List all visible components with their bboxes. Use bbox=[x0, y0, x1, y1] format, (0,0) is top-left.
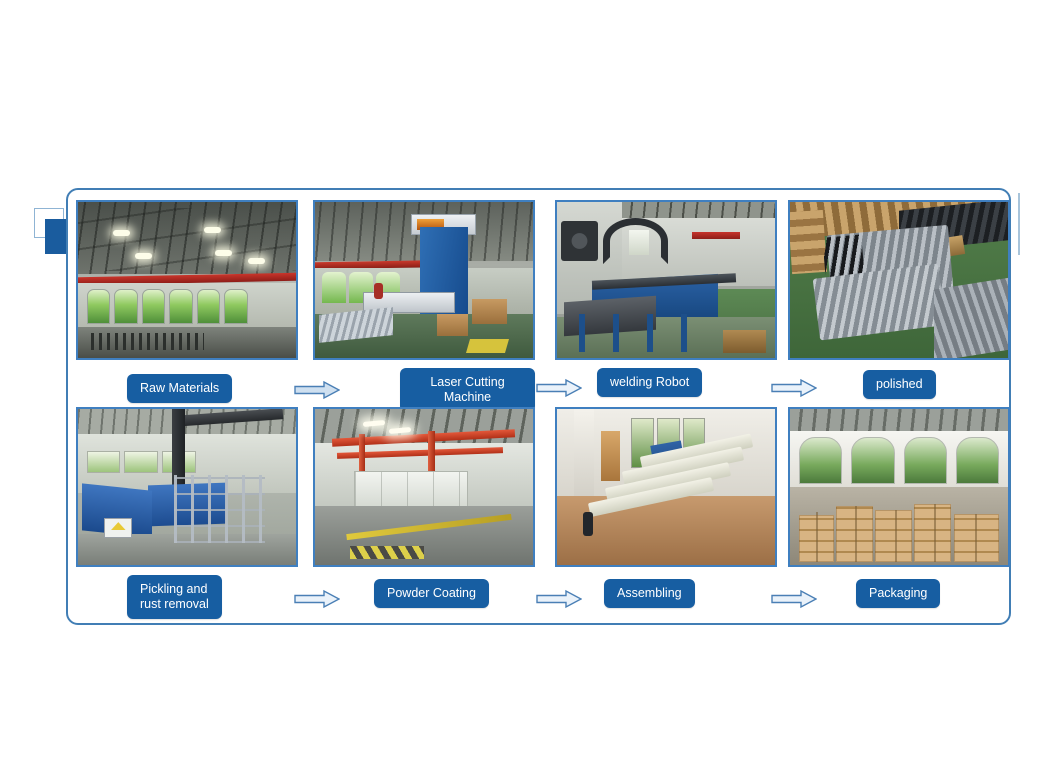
step-label-chip[interactable]: Pickling and rust removal bbox=[127, 575, 222, 619]
workflow-step-powder-coating[interactable]: Powder Coating bbox=[313, 399, 535, 612]
workflow-step-assembling[interactable]: Assembling bbox=[555, 399, 777, 612]
workflow-step-pickling-rust-removal[interactable]: Pickling and rust removal bbox=[76, 399, 298, 612]
step-label-chip[interactable]: Assembling bbox=[604, 579, 695, 608]
step-photo-frame bbox=[788, 200, 1010, 360]
photo-assembly-workbenches bbox=[557, 409, 775, 565]
photo-factory-warehouse-interior bbox=[78, 202, 296, 358]
workflow-row-2: Pickling and rust removal bbox=[68, 399, 1013, 612]
step-photo-frame bbox=[76, 407, 298, 567]
step-photo-frame bbox=[555, 200, 777, 360]
step-label-chip[interactable]: polished bbox=[863, 370, 936, 399]
workflow-step-packaging[interactable]: Packaging bbox=[788, 399, 1010, 612]
slide-canvas: Production Workflow Chart TOPOST bbox=[0, 0, 1060, 762]
header-divider bbox=[1018, 193, 1020, 255]
workflow-step-welding-robot[interactable]: welding Robot bbox=[555, 192, 777, 405]
workflow-step-raw-materials[interactable]: Raw Materials bbox=[76, 192, 298, 405]
step-photo-frame bbox=[555, 407, 777, 567]
step-photo-frame bbox=[76, 200, 298, 360]
photo-powder-coating-line bbox=[315, 409, 533, 565]
step-photo-frame bbox=[313, 200, 535, 360]
workflow-row-1: Raw Materials bbox=[68, 192, 1013, 405]
step-photo-frame bbox=[313, 407, 535, 567]
photo-packaged-cartons bbox=[790, 409, 1008, 565]
workflow-frame: Raw Materials bbox=[66, 188, 1011, 625]
step-label-chip[interactable]: Powder Coating bbox=[374, 579, 489, 608]
slide-header: Production Workflow Chart TOPOST bbox=[0, 95, 1060, 165]
photo-welding-robot-station bbox=[557, 202, 775, 358]
photo-polished-metal-profiles bbox=[790, 202, 1008, 358]
photo-laser-cutting-machine bbox=[315, 202, 533, 358]
step-label-chip[interactable]: Packaging bbox=[856, 579, 940, 608]
step-photo-frame bbox=[788, 407, 1010, 567]
step-label-chip[interactable]: welding Robot bbox=[597, 368, 702, 397]
workflow-step-polished[interactable]: polished bbox=[788, 192, 1010, 405]
photo-pickling-tanks bbox=[78, 409, 296, 565]
workflow-step-laser-cutting-machine[interactable]: Laser Cutting Machine bbox=[313, 192, 535, 405]
